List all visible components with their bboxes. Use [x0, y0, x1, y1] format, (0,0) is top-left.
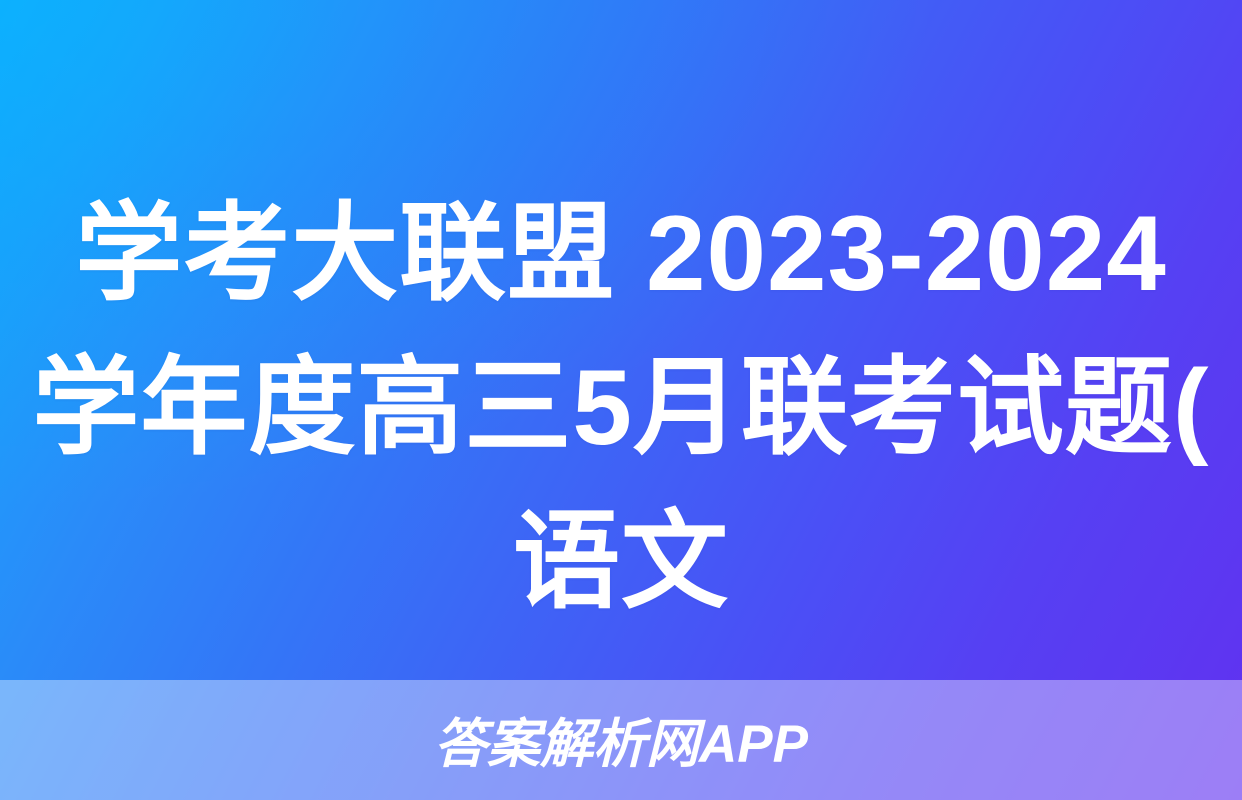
poster-title: 学考大联盟 2023-2024 学年度高三5月联考试题( 语文 — [0, 176, 1242, 638]
title-line-1: 学考大联盟 2023-2024 — [22, 176, 1220, 330]
footer-band: 答案解析网APP — [0, 680, 1242, 800]
title-line-2: 学年度高三5月联考试题( — [22, 330, 1220, 484]
title-line-3: 语文 — [22, 484, 1220, 638]
watermark-text: 答案解析网APP — [0, 680, 1242, 800]
poster-canvas: 学考大联盟 2023-2024 学年度高三5月联考试题( 语文 答案解析网APP — [0, 0, 1242, 800]
